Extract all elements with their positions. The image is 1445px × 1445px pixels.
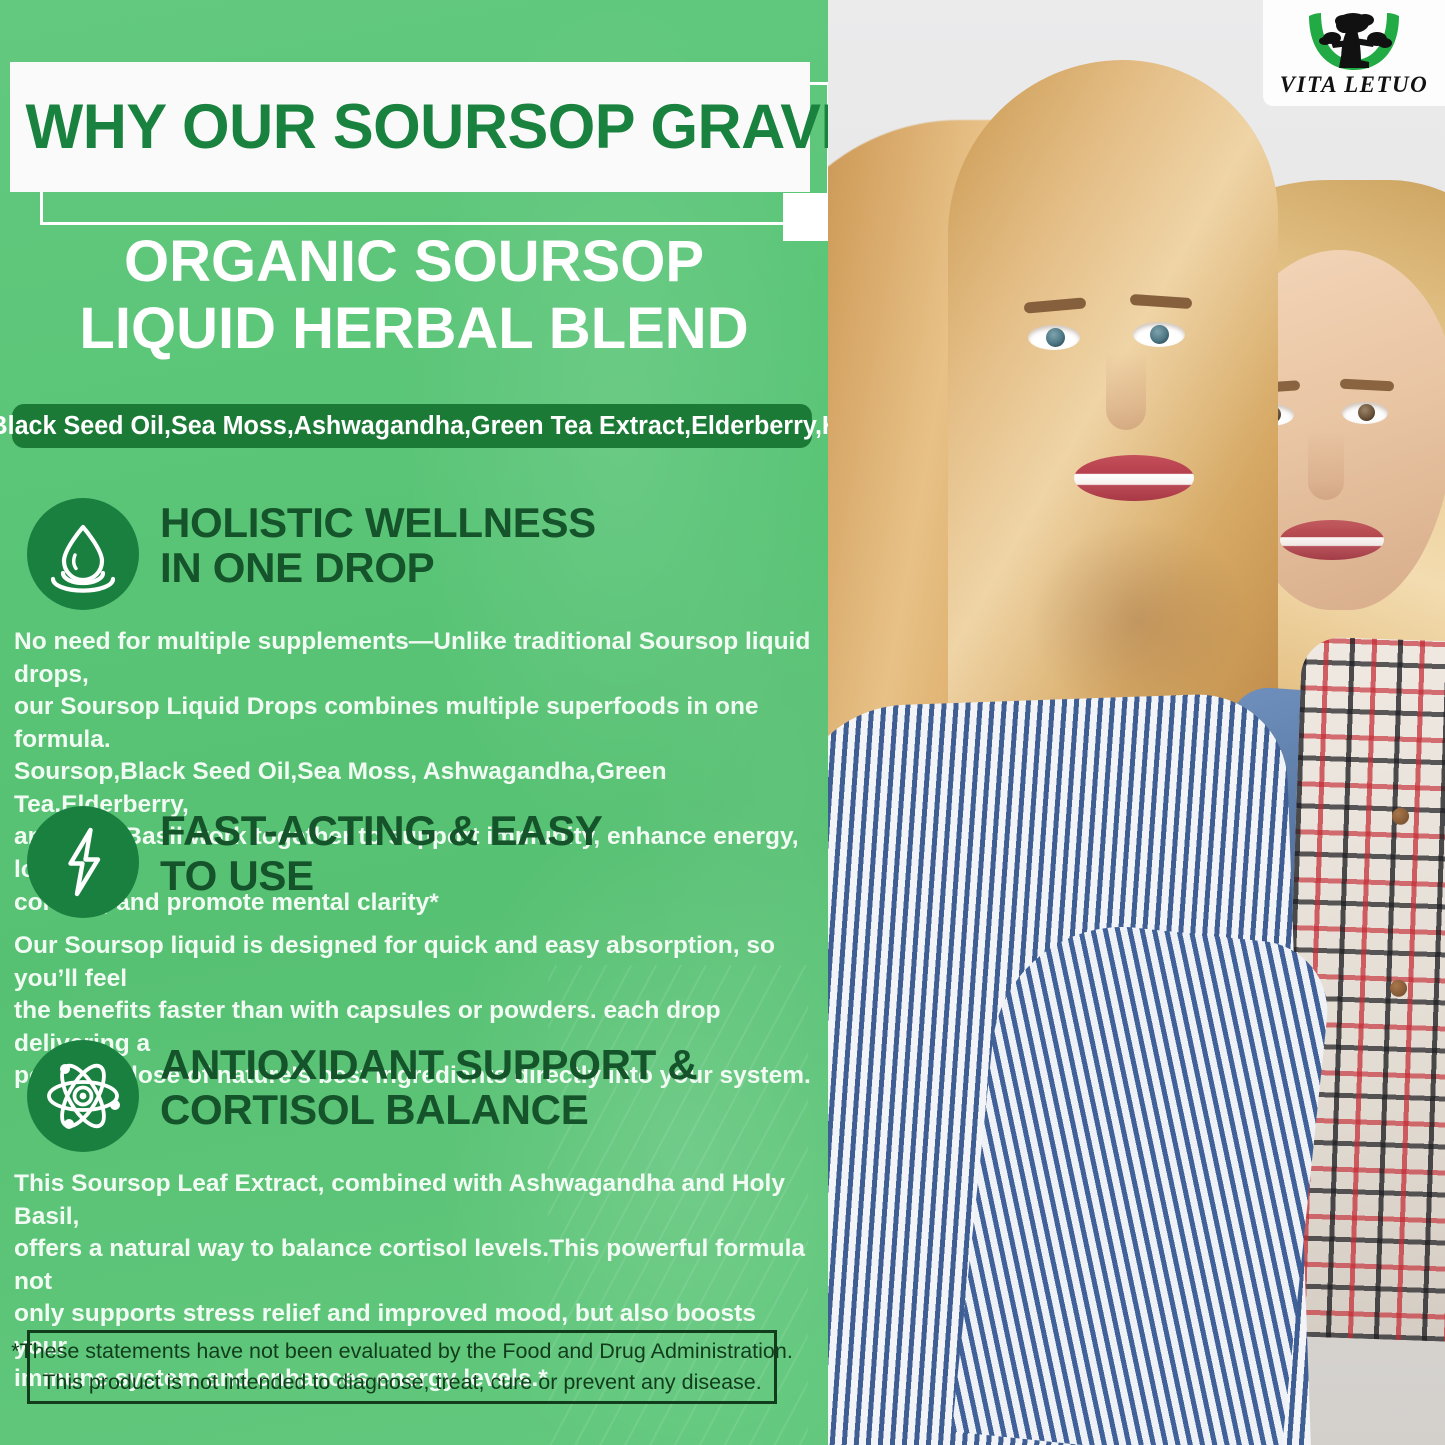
woman-a-lips bbox=[1074, 455, 1194, 501]
feature-title-line-1: FAST-ACTING & EASY bbox=[160, 808, 818, 853]
feature-block-antioxidant-support: ANTIOXIDANT SUPPORT & CORTISOL BALANCE T… bbox=[0, 1040, 828, 1148]
neck-shadow bbox=[1028, 520, 1248, 720]
logo-mark bbox=[1299, 10, 1409, 76]
atom-icon bbox=[27, 1040, 139, 1152]
fda-disclaimer: *These statements have not been evaluate… bbox=[27, 1330, 777, 1404]
page-title-block: WHY OUR SOURSOP GRAVIOLA? bbox=[10, 62, 816, 212]
feature-title: HOLISTIC WELLNESS IN ONE DROP bbox=[160, 500, 818, 591]
water-drop-icon bbox=[27, 498, 139, 610]
woman-a-pupil-left bbox=[1046, 328, 1065, 347]
feature-header: ANTIOXIDANT SUPPORT & CORTISOL BALANCE bbox=[0, 1040, 828, 1148]
woman-b-nose bbox=[1308, 430, 1344, 500]
brand-logo: VITA LETUO bbox=[1263, 0, 1445, 106]
infographic-page: WHY OUR SOURSOP GRAVIOLA? ORGANIC SOURSO… bbox=[0, 0, 1445, 1445]
lightning-bolt-icon bbox=[27, 806, 139, 918]
feature-title-line-1: HOLISTIC WELLNESS bbox=[160, 500, 818, 545]
feature-title-line-1: ANTIOXIDANT SUPPORT & bbox=[160, 1042, 818, 1087]
feature-block-fast-acting: FAST-ACTING & EASY TO USE Our Soursop li… bbox=[0, 806, 828, 914]
feature-title-line-2: IN ONE DROP bbox=[160, 545, 818, 590]
ingredients-banner: Soursop,Black Seed Oil,Sea Moss,Ashwagan… bbox=[12, 404, 812, 448]
feature-body-line: This Soursop Leaf Extract, combined with… bbox=[14, 1168, 814, 1233]
feature-block-holistic-wellness: HOLISTIC WELLNESS IN ONE DROP No need fo… bbox=[0, 498, 828, 606]
feature-title: FAST-ACTING & EASY TO USE bbox=[160, 808, 818, 899]
woman-b-lips bbox=[1280, 520, 1384, 560]
content-panel: WHY OUR SOURSOP GRAVIOLA? ORGANIC SOURSO… bbox=[0, 0, 828, 1445]
feature-body-line: No need for multiple supplements—Unlike … bbox=[14, 626, 814, 691]
feature-title-line-2: CORTISOL BALANCE bbox=[160, 1087, 818, 1132]
lifestyle-photo: VITA LETUO bbox=[828, 0, 1445, 1445]
disclaimer-line-1: *These statements have not been evaluate… bbox=[11, 1336, 793, 1367]
product-headline-line-2: LIQUID HERBAL BLEND bbox=[0, 295, 828, 362]
plaid-button bbox=[1390, 979, 1408, 997]
feature-header: HOLISTIC WELLNESS IN ONE DROP bbox=[0, 498, 828, 606]
feature-body-line: our Soursop Liquid Drops combines multip… bbox=[14, 691, 814, 756]
brand-name: VITA LETUO bbox=[1280, 73, 1429, 96]
product-headline-line-1: ORGANIC SOURSOP bbox=[0, 228, 828, 295]
woman-a-nose bbox=[1106, 352, 1146, 430]
page-title: WHY OUR SOURSOP GRAVIOLA? bbox=[10, 96, 828, 159]
woman-a-pupil-right bbox=[1150, 325, 1169, 344]
woman-b-pupil-right bbox=[1358, 404, 1375, 421]
feature-body-line: offers a natural way to balance cortisol… bbox=[14, 1233, 814, 1298]
plaid-button bbox=[1392, 807, 1410, 825]
feature-title-line-2: TO USE bbox=[160, 853, 818, 898]
feature-header: FAST-ACTING & EASY TO USE bbox=[0, 806, 828, 914]
feature-title: ANTIOXIDANT SUPPORT & CORTISOL BALANCE bbox=[160, 1042, 818, 1133]
title-box: WHY OUR SOURSOP GRAVIOLA? bbox=[10, 62, 810, 192]
feature-body-line: Our Soursop liquid is designed for quick… bbox=[14, 930, 814, 995]
disclaimer-line-2: This product is not intended to diagnose… bbox=[42, 1367, 761, 1398]
striped-shirt-sleeve bbox=[952, 914, 1335, 1445]
product-headline: ORGANIC SOURSOP LIQUID HERBAL BLEND bbox=[0, 228, 828, 363]
